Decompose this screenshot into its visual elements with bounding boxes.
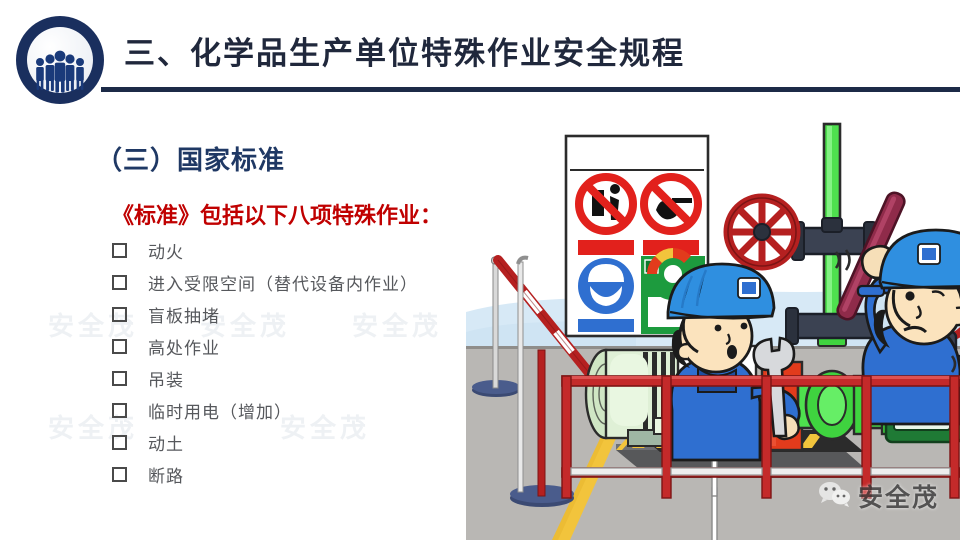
list-item: 进入受限空间（替代设备内作业） bbox=[112, 266, 492, 298]
list-item: 吊装 bbox=[112, 362, 492, 394]
list-item-label: 动土 bbox=[148, 430, 184, 455]
wear-helmet-icon bbox=[578, 258, 634, 314]
list-item-label: 临时用电（增加） bbox=[148, 398, 292, 423]
list-item-label: 吊装 bbox=[148, 366, 184, 391]
mandatory-label-bar bbox=[578, 319, 634, 332]
list-item: 盲板抽堵 bbox=[112, 298, 492, 330]
list-item: 断路 bbox=[112, 458, 492, 490]
square-bullet-icon bbox=[112, 403, 127, 418]
section-heading: （三）国家标准 bbox=[96, 140, 285, 177]
list-item: 临时用电（增加） bbox=[112, 394, 492, 426]
wechat-watermark: 安全茂 bbox=[818, 478, 939, 514]
list-item-label: 进入受限空间（替代设备内作业） bbox=[148, 270, 418, 295]
list-item-label: 高处作业 bbox=[148, 334, 220, 359]
illustration-industrial-maintenance bbox=[466, 100, 960, 540]
list-item-label: 断路 bbox=[148, 462, 184, 487]
list-item-label: 动火 bbox=[148, 238, 184, 263]
no-smoking-open-flame-icon bbox=[644, 177, 698, 231]
no-entry-person-icon bbox=[579, 177, 633, 231]
square-bullet-icon bbox=[112, 371, 127, 386]
list-item: 动土 bbox=[112, 426, 492, 458]
square-bullet-icon bbox=[112, 275, 127, 290]
brand-logo bbox=[16, 16, 104, 104]
square-bullet-icon bbox=[112, 339, 127, 354]
valve-assembly-lower bbox=[786, 308, 878, 344]
wechat-icon bbox=[818, 480, 852, 513]
header-divider bbox=[101, 87, 960, 92]
square-bullet-icon bbox=[112, 307, 127, 322]
square-bullet-icon bbox=[112, 467, 127, 482]
list-item: 动火 bbox=[112, 234, 492, 266]
list-item: 高处作业 bbox=[112, 330, 492, 362]
section-subtitle: 《标准》包括以下八项特殊作业： bbox=[112, 198, 442, 230]
group-of-people-icon bbox=[27, 27, 93, 93]
valve-wheel-left bbox=[728, 198, 796, 266]
square-bullet-icon bbox=[112, 243, 127, 258]
slide-root: 安全茂 安全茂 安全茂 安全茂 安全茂 三、化学品生产 bbox=[0, 0, 960, 540]
square-bullet-icon bbox=[112, 435, 127, 450]
list-item-label: 盲板抽堵 bbox=[148, 302, 220, 327]
special-operations-list: 动火 进入受限空间（替代设备内作业） 盲板抽堵 高处作业 吊装 临时用电（增加）… bbox=[112, 234, 492, 490]
prohibition-label-bar-1 bbox=[578, 240, 634, 255]
wechat-watermark-text: 安全茂 bbox=[858, 478, 939, 514]
page-title: 三、化学品生产单位特殊作业安全规程 bbox=[124, 28, 685, 73]
